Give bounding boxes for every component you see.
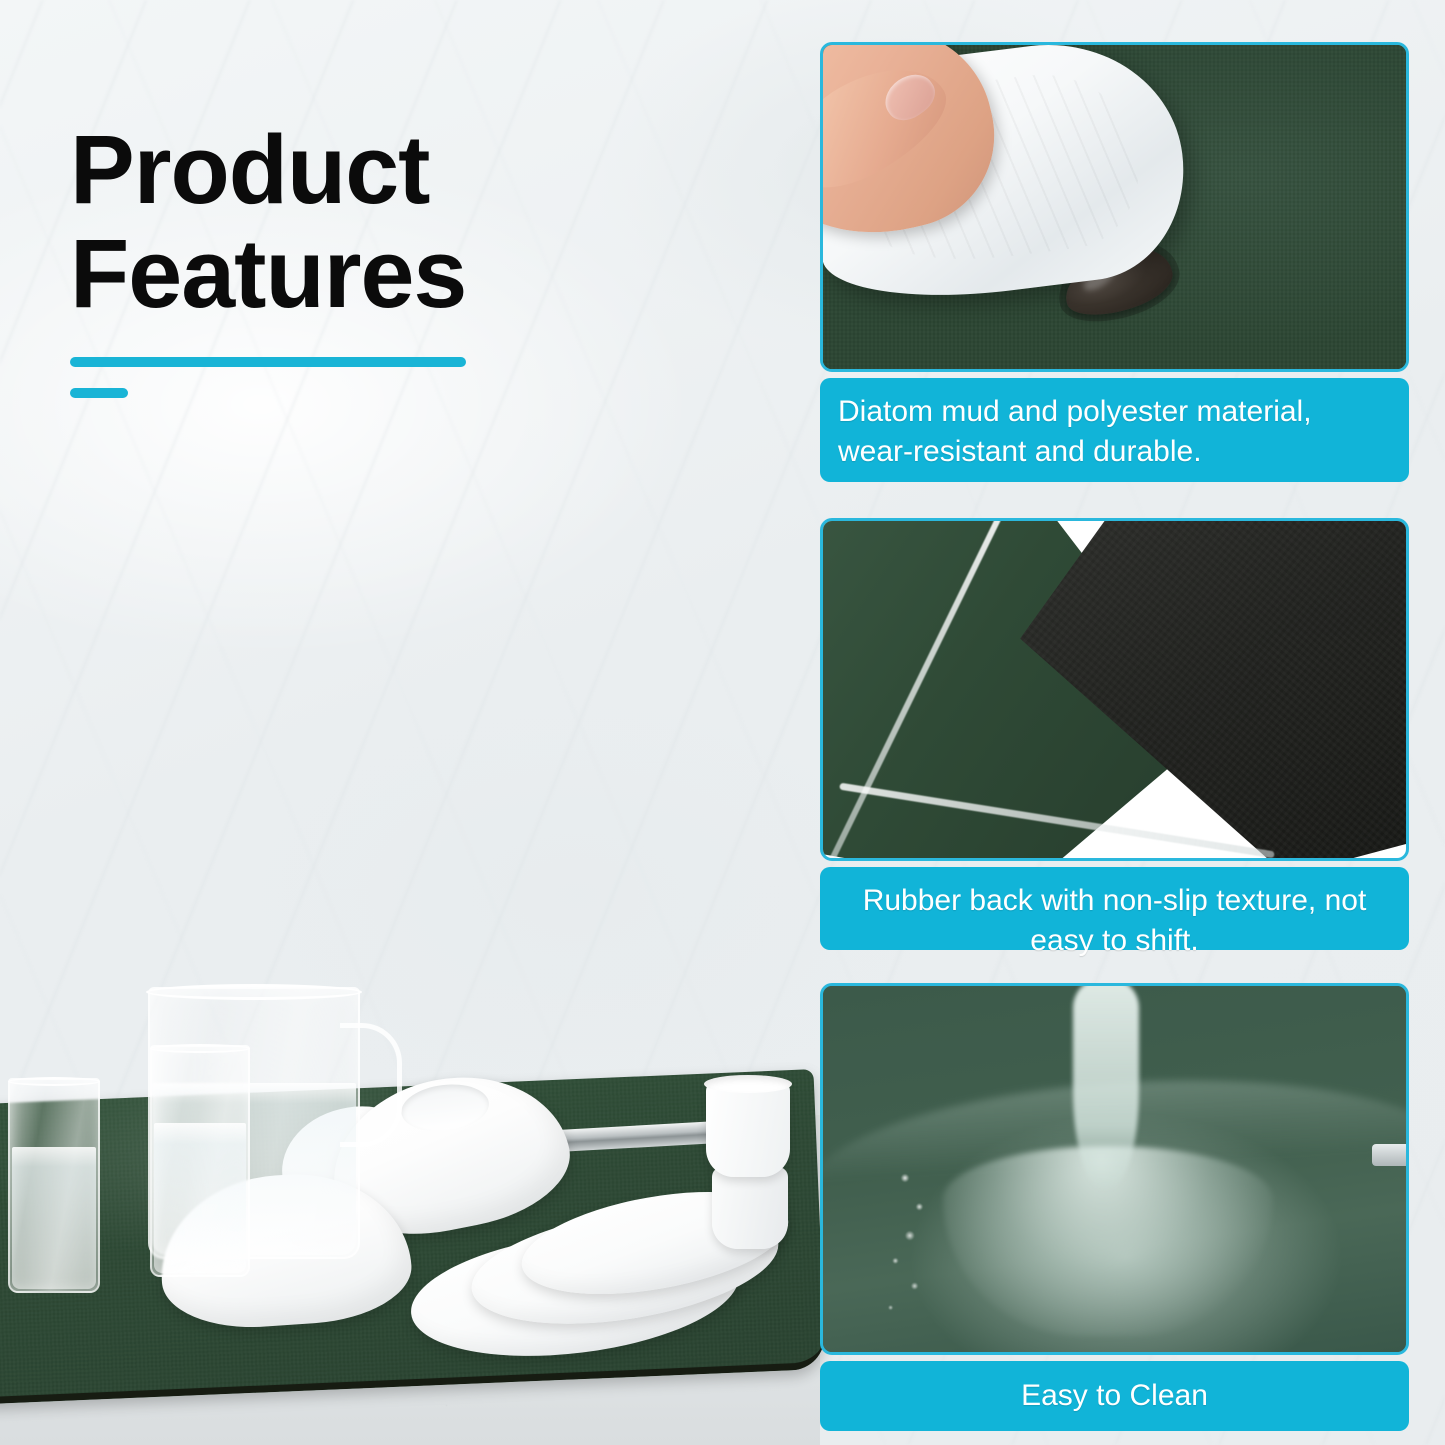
page-title: Product Features bbox=[70, 118, 730, 326]
water-glass-tall bbox=[8, 1078, 100, 1293]
title-rule-short bbox=[70, 388, 128, 398]
glass-rim bbox=[8, 1077, 100, 1086]
finger bbox=[820, 44, 963, 206]
glass-rim bbox=[150, 1044, 250, 1053]
feature-caption-easy-clean: Easy to Clean bbox=[820, 1361, 1409, 1431]
feature-image-non-slip bbox=[820, 518, 1409, 861]
title-line-1: Product bbox=[70, 118, 730, 222]
title-rule-long bbox=[70, 357, 466, 367]
water-glass-short bbox=[150, 1045, 250, 1277]
title-line-2: Features bbox=[70, 222, 730, 326]
white-ramekin-lower bbox=[712, 1167, 788, 1249]
feature-caption-absorbent: Diatom mud and polyester material, wear-… bbox=[820, 378, 1409, 482]
glass-water bbox=[12, 1147, 96, 1289]
water-stream bbox=[1073, 983, 1139, 1188]
feature-caption-non-slip: Rubber back with non-slip texture, not e… bbox=[820, 867, 1409, 950]
hero-product-photo bbox=[0, 785, 815, 1445]
glass-water bbox=[154, 1123, 246, 1273]
white-ramekin-cup bbox=[706, 1081, 790, 1177]
pitcher-rim bbox=[146, 984, 362, 1000]
faucet-spout bbox=[1372, 1144, 1409, 1166]
feature-image-easy-clean bbox=[820, 983, 1409, 1355]
feature-column: Diatom mud and polyester material, wear-… bbox=[815, 0, 1445, 1445]
feature-image-absorbent bbox=[820, 42, 1409, 372]
water-bubbles bbox=[869, 1160, 989, 1340]
pitcher-handle bbox=[340, 1023, 402, 1147]
